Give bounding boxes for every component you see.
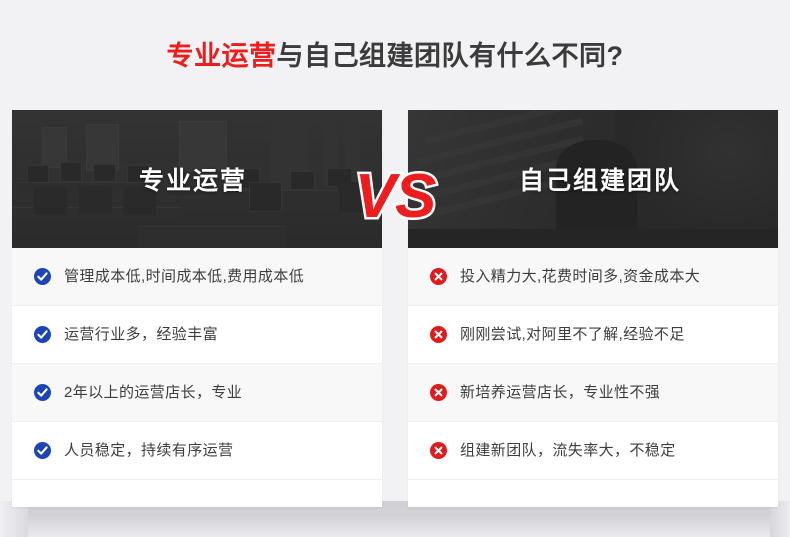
- page-title: 专业运营与自己组建团队有什么不同?: [0, 34, 790, 73]
- check-circle-icon: [34, 384, 51, 401]
- list-item: 组建新团队，流失率大，不稳定: [408, 422, 778, 480]
- x-circle-icon: [430, 268, 447, 285]
- list-item-label: 刚刚尝试,对阿里不了解,经验不足: [460, 327, 685, 342]
- list-item-label: 运营行业多，经验丰富: [64, 327, 218, 342]
- hero-professional-operation: 专业运营: [12, 110, 382, 248]
- page-title-highlight: 专业运营: [167, 41, 277, 71]
- list-item: 投入精力大,花费时间多,资金成本大: [408, 248, 778, 306]
- panel-filler: [408, 480, 778, 507]
- hero-label-professional-operation: 专业运营: [12, 161, 382, 197]
- check-circle-icon: [34, 326, 51, 343]
- list-item-label: 2年以上的运营店长，专业: [64, 385, 242, 400]
- list-item: 刚刚尝试,对阿里不了解,经验不足: [408, 306, 778, 364]
- hero-label-self-built-team: 自己组建团队: [408, 161, 778, 197]
- list-item: 管理成本低,时间成本低,费用成本低: [12, 248, 382, 306]
- panel-filler: [12, 480, 382, 507]
- x-circle-icon: [430, 326, 447, 343]
- list-item-label: 新培养运营店长，专业性不强: [460, 385, 660, 400]
- x-circle-icon: [430, 384, 447, 401]
- list-item: 人员稳定，持续有序运营: [12, 422, 382, 480]
- list-item: 运营行业多，经验丰富: [12, 306, 382, 364]
- list-item-label: 组建新团队，流失率大，不稳定: [460, 443, 676, 458]
- feature-list-self-built-team: 投入精力大,花费时间多,资金成本大 刚刚尝试,对阿里不了解,经验不足 新培养运营…: [408, 248, 778, 507]
- list-item-label: 管理成本低,时间成本低,费用成本低: [64, 269, 304, 284]
- list-item: 2年以上的运营店长，专业: [12, 364, 382, 422]
- panel-self-built-team: 自己组建团队 投入精力大,花费时间多,资金成本大 刚刚尝试,对阿里不了解,经验不…: [408, 110, 778, 507]
- check-circle-icon: [34, 268, 51, 285]
- list-item: 新培养运营店长，专业性不强: [408, 364, 778, 422]
- list-item-label: 投入精力大,花费时间多,资金成本大: [460, 269, 700, 284]
- panel-professional-operation: 专业运营 管理成本低,时间成本低,费用成本低 运营行业多，经验丰富 2年以上的运…: [12, 110, 382, 507]
- check-circle-icon: [34, 442, 51, 459]
- hero-self-built-team: 自己组建团队: [408, 110, 778, 248]
- x-circle-icon: [430, 442, 447, 459]
- vs-badge: VS: [355, 166, 436, 228]
- feature-list-professional-operation: 管理成本低,时间成本低,费用成本低 运营行业多，经验丰富 2年以上的运营店长，专…: [12, 248, 382, 507]
- page-title-rest: 与自己组建团队有什么不同?: [277, 41, 624, 71]
- list-item-label: 人员稳定，持续有序运营: [64, 443, 233, 458]
